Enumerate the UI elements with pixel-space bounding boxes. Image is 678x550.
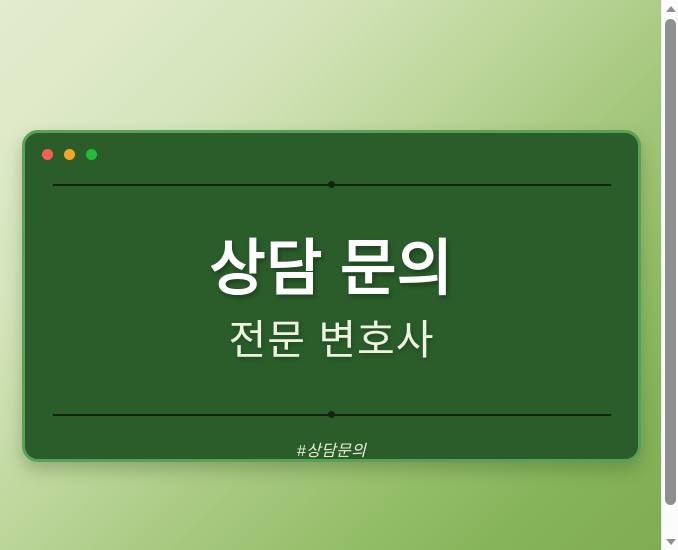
scrollbar-thumb[interactable] <box>665 19 676 505</box>
divider-bottom <box>53 413 611 416</box>
quote-card: 상담 문의 전문 변호사 #상담문의 <box>22 130 641 462</box>
vertical-scrollbar[interactable] <box>661 0 678 550</box>
headline-block: 상담 문의 전문 변호사 <box>53 186 610 413</box>
close-button-dot[interactable] <box>42 149 53 160</box>
minimize-button-dot[interactable] <box>64 149 75 160</box>
divider-center-dot <box>328 411 335 418</box>
scroll-down-arrow-icon <box>666 539 676 545</box>
divider-top <box>53 183 611 186</box>
scroll-down-button[interactable] <box>662 533 678 550</box>
maximize-button-dot[interactable] <box>86 149 97 160</box>
page-title: 상담 문의 <box>210 234 454 302</box>
page-canvas: 상담 문의 전문 변호사 #상담문의 <box>0 0 661 550</box>
divider-center-dot <box>328 181 335 188</box>
scroll-up-button[interactable] <box>662 0 678 17</box>
scrollbar-track[interactable] <box>662 17 678 533</box>
card-body: 상담 문의 전문 변호사 #상담문의 <box>25 177 638 462</box>
window-traffic-lights <box>42 149 97 160</box>
scroll-up-arrow-icon <box>666 6 676 12</box>
page-subtitle: 전문 변호사 <box>229 316 435 365</box>
hashtag-label: #상담문의 <box>297 437 366 461</box>
